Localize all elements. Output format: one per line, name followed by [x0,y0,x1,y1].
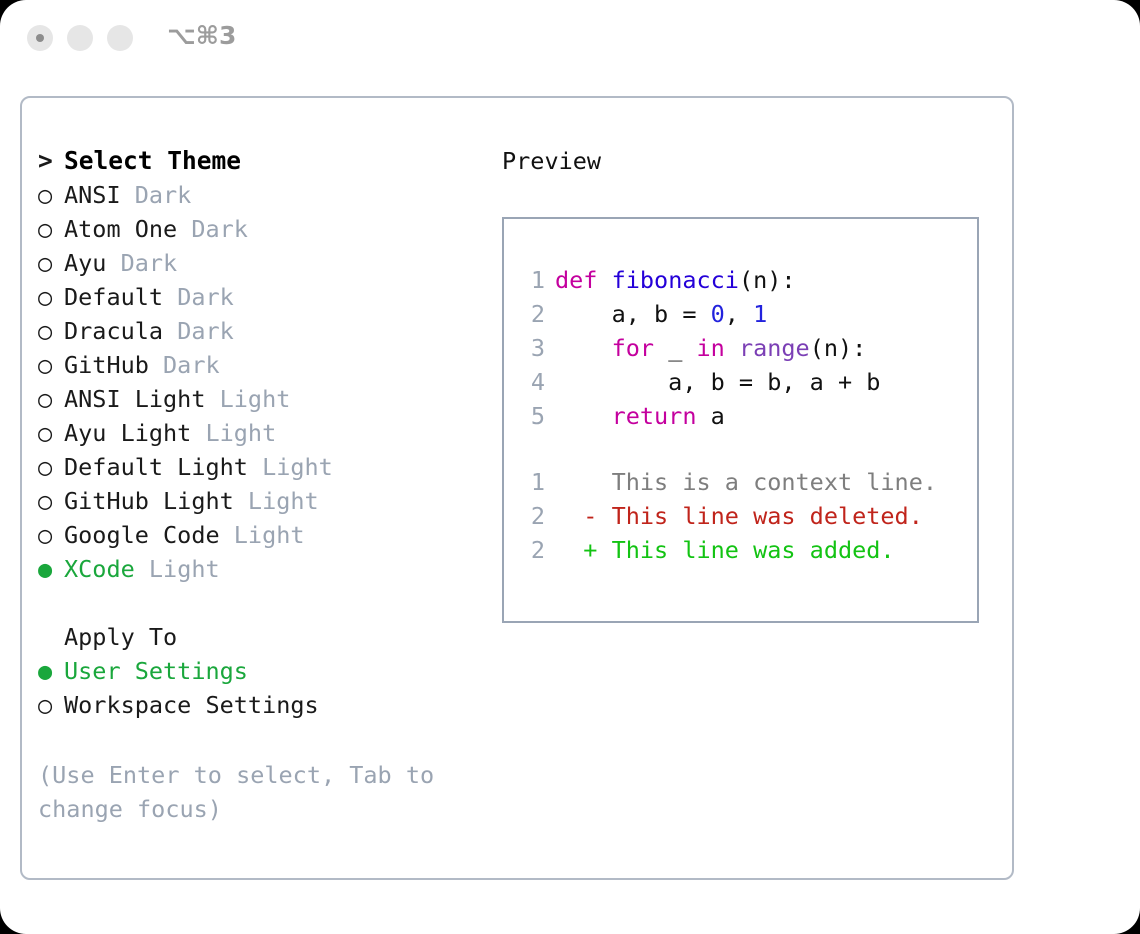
code-token: fibonacci [612,266,739,294]
code-preview: 1def fibonacci(n):2 a, b = 0, 13 for _ i… [504,263,977,433]
diff-line-text: - This line was deleted. [555,502,923,530]
apply-to-section: Apply To ●User Settings○Workspace Settin… [38,620,488,722]
code-token: range [739,334,810,362]
code-token: def [555,266,597,294]
radio-selected-icon: ● [38,654,64,688]
radio-unselected-icon: ○ [38,348,64,382]
theme-option-label: Default Light [64,453,248,481]
code-token: a, b = b, a + b [555,368,880,396]
diff-line-text: + This line was added. [555,536,895,564]
theme-picker-window: ⌥⌘3 >Select Theme ○ANSI Dark○Atom One Da… [0,0,1140,934]
code-line-number: 3 [521,331,545,365]
theme-selection-column: >Select Theme ○ANSI Dark○Atom One Dark○A… [38,144,488,826]
code-token: _ [654,334,696,362]
apply-to-option-label: Workspace Settings [64,691,319,719]
code-token: (n): [739,266,796,294]
apply-to-list: ●User Settings○Workspace Settings [38,654,488,722]
main-panel: >Select Theme ○ANSI Dark○Atom One Dark○A… [20,96,1014,880]
theme-variant-badge: Light [248,453,333,481]
code-token: a [696,402,724,430]
code-token: for [612,334,654,362]
theme-variant-badge: Dark [121,181,192,209]
theme-variant-badge: Dark [106,249,177,277]
prompt-caret-icon: > [38,144,64,178]
code-token [555,402,612,430]
theme-variant-badge: Dark [149,351,220,379]
theme-option-github-light[interactable]: ○GitHub Light Light [38,484,488,518]
diff-line-del: 2 - This line was deleted. [504,499,977,533]
code-token: (n): [810,334,867,362]
theme-list-header: >Select Theme [38,144,488,178]
radio-unselected-icon: ○ [38,484,64,518]
keyboard-hint-line-1: (Use Enter to select, Tab to [38,758,458,792]
window-close-button[interactable] [27,25,53,51]
code-token: a, b = [555,300,711,328]
diff-preview: 1 This is a context line.2 - This line w… [504,465,977,567]
theme-option-github[interactable]: ○GitHub Dark [38,348,488,382]
apply-to-header-label: Apply To [64,623,177,651]
theme-option-ansi[interactable]: ○ANSI Dark [38,178,488,212]
theme-option-label: XCode [64,555,135,583]
apply-to-option-workspace-settings[interactable]: ○Workspace Settings [38,688,488,722]
radio-unselected-icon: ○ [38,212,64,246]
code-token: 1 [753,300,767,328]
theme-option-label: GitHub [64,351,149,379]
code-line: 1def fibonacci(n): [504,263,977,297]
window-close-dot [36,34,44,42]
radio-unselected-icon: ○ [38,280,64,314]
preview-box: 1def fibonacci(n):2 a, b = 0, 13 for _ i… [502,217,979,623]
window-minimize-button[interactable] [67,25,93,51]
theme-list: ○ANSI Dark○Atom One Dark○Ayu Dark○Defaul… [38,178,488,586]
theme-option-default[interactable]: ○Default Dark [38,280,488,314]
radio-selected-icon: ● [38,552,64,586]
code-token [725,334,739,362]
theme-option-ansi-light[interactable]: ○ANSI Light Light [38,382,488,416]
theme-option-ayu[interactable]: ○Ayu Dark [38,246,488,280]
code-token [555,334,612,362]
theme-option-google-code[interactable]: ○Google Code Light [38,518,488,552]
window-titlebar: ⌥⌘3 [0,0,1140,78]
keyboard-shortcut-label: ⌥⌘3 [167,21,236,50]
theme-option-label: Ayu [64,249,106,277]
window-maximize-button[interactable] [107,25,133,51]
apply-to-option-label: User Settings [64,657,248,685]
theme-variant-badge: Light [220,521,305,549]
diff-line-number: 2 [521,533,545,567]
code-line: 2 a, b = 0, 1 [504,297,977,331]
radio-unselected-icon: ○ [38,450,64,484]
theme-option-label: ANSI [64,181,121,209]
diff-line-number: 1 [521,465,545,499]
code-token: 0 [711,300,725,328]
theme-option-xcode[interactable]: ●XCode Light [38,552,488,586]
code-line-number: 2 [521,297,545,331]
code-line-number: 4 [521,365,545,399]
radio-unselected-icon: ○ [38,416,64,450]
preview-spacer [504,433,977,465]
theme-variant-badge: Dark [177,215,248,243]
theme-variant-badge: Light [191,419,276,447]
theme-option-dracula[interactable]: ○Dracula Dark [38,314,488,348]
theme-option-default-light[interactable]: ○Default Light Light [38,450,488,484]
apply-to-option-user-settings[interactable]: ●User Settings [38,654,488,688]
theme-list-header-label: Select Theme [64,146,241,175]
preview-column: Preview 1def fibonacci(n):2 a, b = 0, 13… [502,144,1002,623]
preview-title: Preview [502,144,1002,178]
radio-unselected-icon: ○ [38,246,64,280]
radio-unselected-icon: ○ [38,688,64,722]
theme-option-label: Ayu Light [64,419,191,447]
diff-line-add: 2 + This line was added. [504,533,977,567]
diff-line-number: 2 [521,499,545,533]
code-line-number: 5 [521,399,545,433]
theme-option-label: ANSI Light [64,385,205,413]
theme-variant-badge: Dark [163,283,234,311]
radio-unselected-icon: ○ [38,314,64,348]
theme-option-label: Dracula [64,317,163,345]
code-token: return [612,402,697,430]
theme-option-ayu-light[interactable]: ○Ayu Light Light [38,416,488,450]
code-line-number: 1 [521,263,545,297]
diff-line-text: This is a context line. [555,468,937,496]
theme-variant-badge: Dark [163,317,234,345]
radio-unselected-icon: ○ [38,178,64,212]
code-token: , [725,300,753,328]
code-token: in [697,334,725,362]
keyboard-hint-line-2: change focus) [38,792,458,826]
theme-variant-badge: Light [135,555,220,583]
theme-option-label: Google Code [64,521,220,549]
theme-variant-badge: Light [234,487,319,515]
code-line: 5 return a [504,399,977,433]
code-token [597,266,611,294]
theme-option-label: Default [64,283,163,311]
theme-variant-badge: Light [205,385,290,413]
theme-option-label: Atom One [64,215,177,243]
theme-option-atom-one[interactable]: ○Atom One Dark [38,212,488,246]
radio-unselected-icon: ○ [38,518,64,552]
diff-line-ctx: 1 This is a context line. [504,465,977,499]
code-line: 4 a, b = b, a + b [504,365,977,399]
apply-to-header: Apply To [38,620,488,654]
keyboard-hint: (Use Enter to select, Tab to change focu… [38,758,458,826]
theme-option-label: GitHub Light [64,487,234,515]
radio-unselected-icon: ○ [38,382,64,416]
code-line: 3 for _ in range(n): [504,331,977,365]
